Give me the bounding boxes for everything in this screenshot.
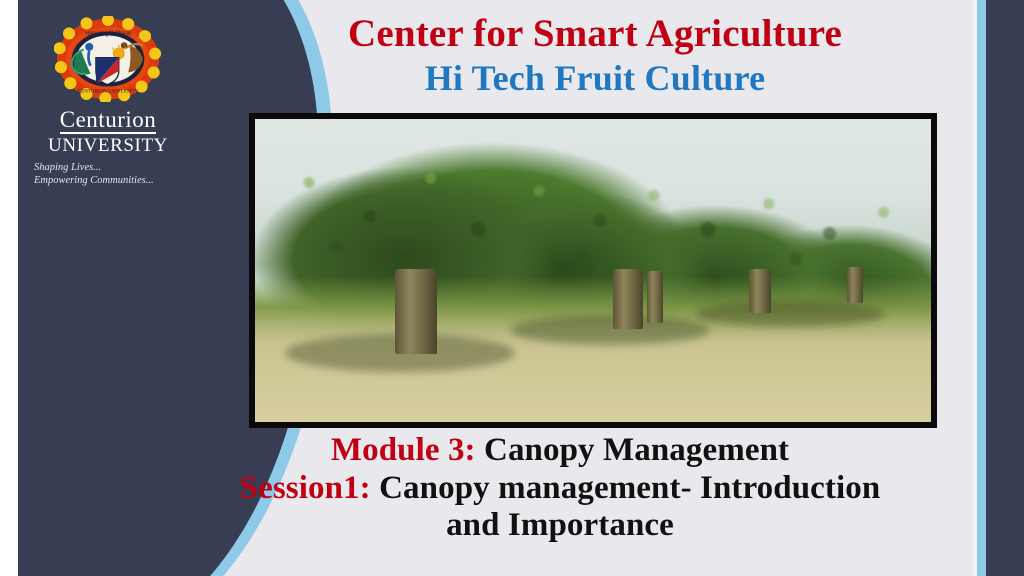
right-navy-band <box>986 0 1024 576</box>
presentation-slide: भारत संस्कृति विकास <box>0 0 1024 576</box>
tagline-line-1: Shaping Lives... <box>34 161 188 174</box>
tagline-line-2: Empowering Communities... <box>34 174 188 187</box>
session-label: Session1: <box>240 470 371 506</box>
tree-trunk <box>847 267 863 303</box>
orchard-photo <box>249 113 937 428</box>
orchard-photo-image <box>255 119 931 422</box>
left-white-margin <box>0 0 18 576</box>
tree-trunk <box>647 271 663 323</box>
page-subtitle: Hi Tech Fruit Culture <box>200 58 990 99</box>
tree-trunk <box>613 269 643 329</box>
session-title: Canopy management- Introduction <box>379 470 880 506</box>
session-line: Session1: Canopy management- Introductio… <box>150 470 970 508</box>
slide-caption: Module 3: Canopy Management Session1: Ca… <box>150 432 970 545</box>
university-name-secondary: UNIVERSITY <box>28 135 188 157</box>
module-line: Module 3: Canopy Management <box>150 432 970 470</box>
university-name: Centurion <box>28 108 188 134</box>
module-title: Canopy Management <box>484 432 789 468</box>
tree-shadow <box>695 301 885 327</box>
university-name-primary: Centurion <box>60 108 157 134</box>
page-title: Center for Smart Agriculture <box>200 12 990 56</box>
university-emblem-icon: भारत संस्कृति विकास <box>54 16 162 102</box>
foliage-texture <box>255 119 931 331</box>
university-branding: भारत संस्कृति विकास <box>28 16 188 187</box>
tree-shadow <box>510 315 710 345</box>
svg-text:CENTURION UNIVERSITY: CENTURION UNIVERSITY <box>78 90 139 95</box>
tree-trunk <box>749 269 771 313</box>
university-tagline: Shaping Lives... Empowering Communities.… <box>28 161 188 187</box>
module-label: Module 3: <box>331 432 476 468</box>
session-title-line-2: and Importance <box>150 507 970 545</box>
slide-header: Center for Smart Agriculture Hi Tech Fru… <box>200 12 990 99</box>
tree-trunk <box>395 269 437 354</box>
